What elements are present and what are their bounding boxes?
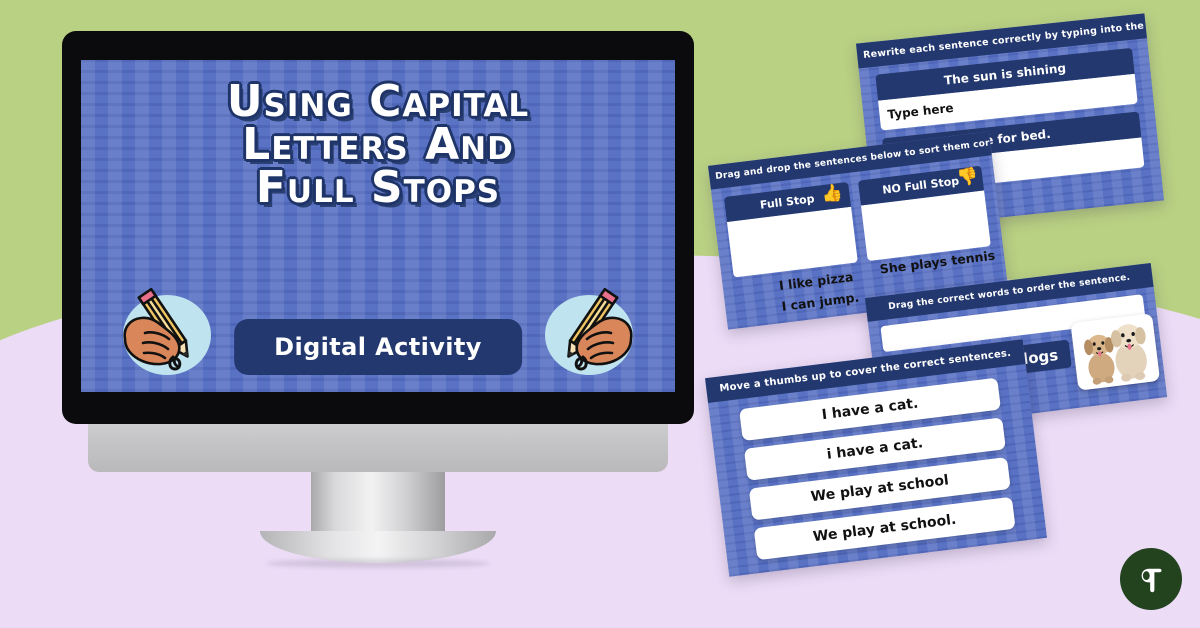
digital-activity-button[interactable]: Digital Activity: [234, 319, 522, 375]
title-line-3: Full Stops: [81, 166, 675, 209]
draggable-sentence[interactable]: I can jump.: [781, 289, 860, 313]
drop-column-full-stop[interactable]: Full Stop 👍: [724, 182, 857, 278]
page-title: Using Capital Letters and Full Stops: [81, 80, 675, 209]
teach-starter-logo[interactable]: [1120, 548, 1182, 610]
column-label: NO Full Stop: [882, 174, 960, 196]
drop-column-no-full-stop[interactable]: NO Full Stop 👎: [857, 166, 990, 262]
monitor-chin: [88, 424, 668, 472]
title-line-1: Using Capital: [81, 80, 675, 123]
activity-card-cover[interactable]: Move a thumbs up to cover the correct se…: [705, 339, 1047, 577]
poster-stage: Using Capital Letters and Full Stops: [0, 0, 1200, 628]
title-line-2: Letters and: [81, 123, 675, 166]
answer-input-placeholder-0: Type here: [887, 101, 954, 122]
desktop-monitor: Using Capital Letters and Full Stops: [62, 31, 694, 576]
hand-holding-pencil-icon: [115, 281, 219, 385]
hand-holding-pencil-icon: [537, 281, 641, 385]
monitor-screen: Using Capital Letters and Full Stops: [81, 60, 675, 392]
monitor-stand-foot: [260, 531, 496, 563]
thumbs-up-icon: 👍: [821, 185, 844, 204]
two-golden-retriever-puppies-icon: [1073, 315, 1158, 388]
thumbs-down-icon: 👎: [956, 168, 979, 187]
pilcrow-logo-icon: [1134, 562, 1168, 596]
column-label: Full Stop: [759, 192, 815, 212]
puppies-picture-card: [1070, 313, 1160, 390]
draggable-sentence[interactable]: I like pizza: [778, 269, 857, 293]
